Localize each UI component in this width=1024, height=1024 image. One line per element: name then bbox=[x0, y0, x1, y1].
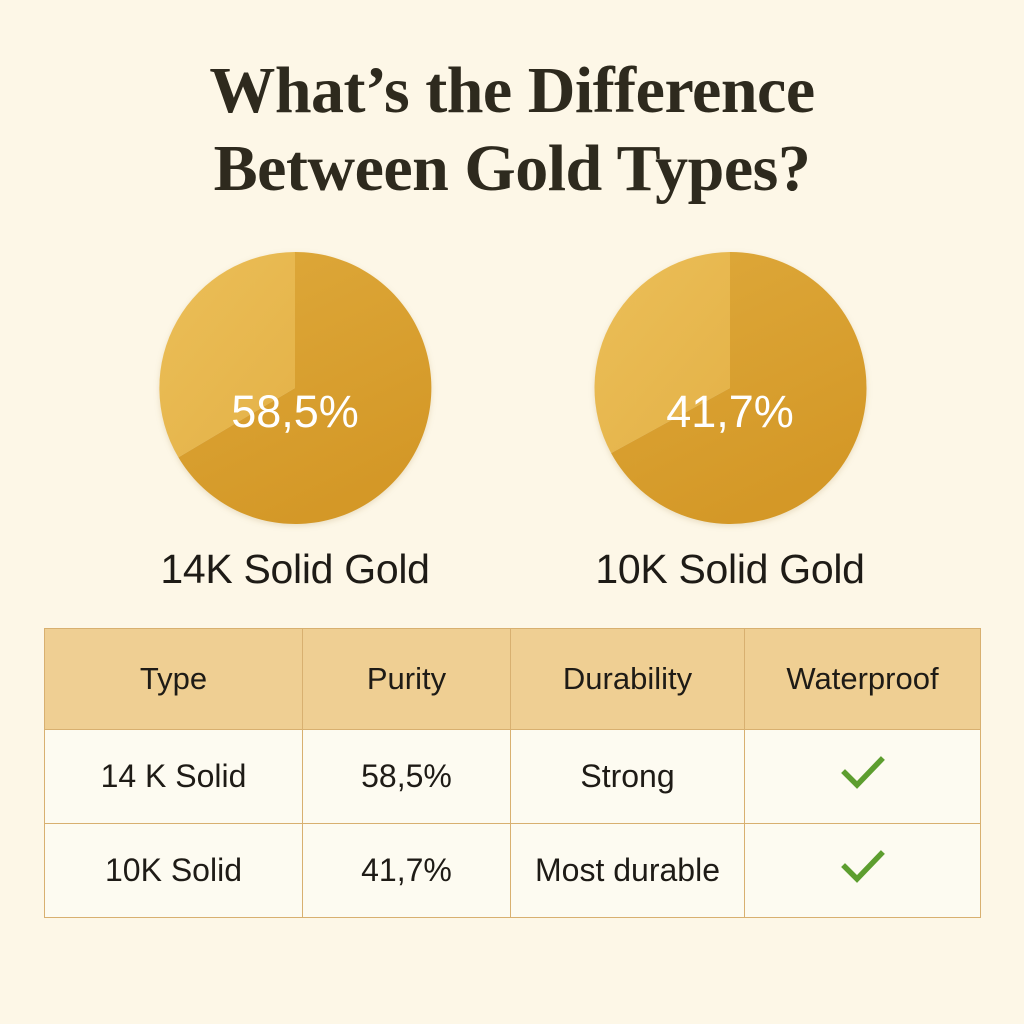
page-title-line-2: Between Gold Types? bbox=[0, 130, 1024, 208]
check-icon bbox=[841, 756, 885, 790]
table-header-waterproof: Waterproof bbox=[745, 629, 981, 730]
cell-waterproof bbox=[745, 824, 981, 918]
pie-chart-10k: 41,7% bbox=[592, 250, 868, 526]
pie-chart-icon bbox=[592, 250, 868, 526]
cell-waterproof bbox=[745, 730, 981, 824]
check-icon bbox=[841, 850, 885, 884]
pie-caption-10k: 10K Solid Gold bbox=[520, 546, 940, 593]
infographic-page: What’s the Difference Between Gold Types… bbox=[0, 0, 1024, 1024]
table-header: Type Purity Durability Waterproof bbox=[45, 629, 981, 730]
pie-chart-14k: 58,5% bbox=[157, 250, 433, 526]
table-body: 14 K Solid 58,5% Strong 10K Solid 41,7% bbox=[45, 730, 981, 918]
pie-caption-14k: 14K Solid Gold bbox=[85, 546, 505, 593]
table-header-type: Type bbox=[45, 629, 303, 730]
cell-purity: 58,5% bbox=[303, 730, 511, 824]
cell-purity: 41,7% bbox=[303, 824, 511, 918]
pie-chart-icon bbox=[157, 250, 433, 526]
table-row: 10K Solid 41,7% Most durable bbox=[45, 824, 981, 918]
table-header-row: Type Purity Durability Waterproof bbox=[45, 629, 981, 730]
page-title-line-1: What’s the Difference bbox=[0, 52, 1024, 130]
comparison-table: Type Purity Durability Waterproof 14 K S… bbox=[44, 628, 981, 918]
pie-captions: 14K Solid Gold 10K Solid Gold bbox=[0, 546, 1024, 606]
cell-durability: Strong bbox=[511, 730, 745, 824]
cell-durability: Most durable bbox=[511, 824, 745, 918]
cell-type: 10K Solid bbox=[45, 824, 303, 918]
pie-chart-group: 58,5% 41,7% bbox=[0, 250, 1024, 540]
cell-type: 14 K Solid bbox=[45, 730, 303, 824]
table-header-purity: Purity bbox=[303, 629, 511, 730]
page-title: What’s the Difference Between Gold Types… bbox=[0, 52, 1024, 208]
table-header-durability: Durability bbox=[511, 629, 745, 730]
comparison-table-wrap: Type Purity Durability Waterproof 14 K S… bbox=[44, 628, 980, 918]
table-row: 14 K Solid 58,5% Strong bbox=[45, 730, 981, 824]
